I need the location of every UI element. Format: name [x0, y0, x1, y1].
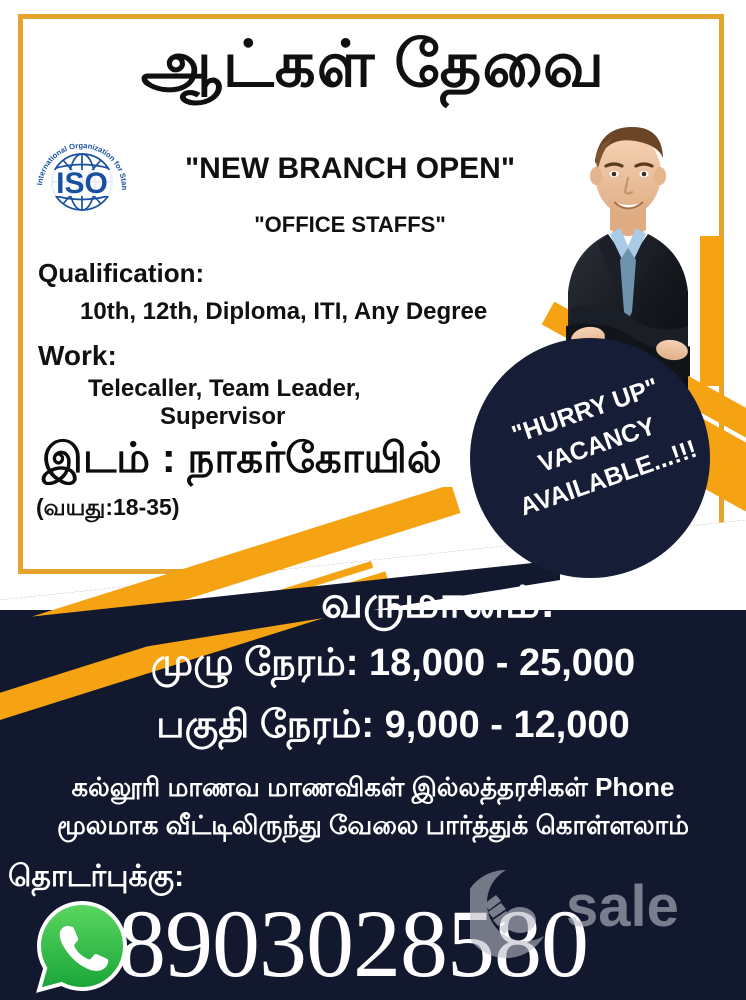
salary-heading: வருமானம்: — [0, 578, 746, 634]
job-advertisement-poster: ஆட்கள் தேவை International Organization f… — [0, 0, 746, 1000]
salary-part-time-row: பகுதி நேரம்: 9,000 - 12,000 — [0, 704, 746, 752]
work-label: Work: — [38, 340, 117, 372]
branch-open-headline: "NEW BRANCH OPEN" — [150, 152, 550, 186]
iso-logo: International Organization for Standardi… — [30, 128, 134, 228]
description-line-2: மூலமாக வீட்டிலிருந்து வேலை பார்த்துக் கொ… — [0, 806, 746, 844]
description-block: கல்லூரி மாணவ மாணவிகள் இல்லத்தரசிகள் Phon… — [0, 768, 746, 845]
page-title: ஆட்கள் தேவை — [0, 30, 746, 99]
qualification-value: 10th, 12th, Diploma, ITI, Any Degree — [80, 298, 487, 326]
office-staffs-subheadline: "OFFICE STAFFS" — [150, 212, 550, 238]
phone-number[interactable]: 8903028580 — [118, 888, 588, 999]
location-banner: இடம் : நாகர்கோயில் — [36, 432, 452, 487]
qualification-label: Qualification: — [38, 258, 204, 289]
salary-full-time-row: முழு நேரம்: 18,000 - 25,000 — [0, 642, 746, 690]
salary-full-time-label: முழு நேரம்: — [151, 642, 359, 684]
salary-full-time-value: 18,000 - 25,000 — [369, 642, 635, 684]
salary-part-time-value: 9,000 - 12,000 — [385, 704, 630, 746]
age-requirement: (வயது:18-35) — [36, 494, 179, 524]
whatsapp-icon[interactable] — [34, 898, 130, 994]
iso-wordmark: ISO — [56, 167, 108, 200]
work-value-line1: Telecaller, Team Leader, — [88, 375, 361, 403]
description-line-1: கல்லூரி மாணவ மாணவிகள் இல்லத்தரசிகள் Phon… — [0, 768, 746, 806]
salary-part-time-label: பகுதி நேரம்: — [156, 704, 374, 746]
work-value-line2: Supervisor — [160, 403, 285, 431]
